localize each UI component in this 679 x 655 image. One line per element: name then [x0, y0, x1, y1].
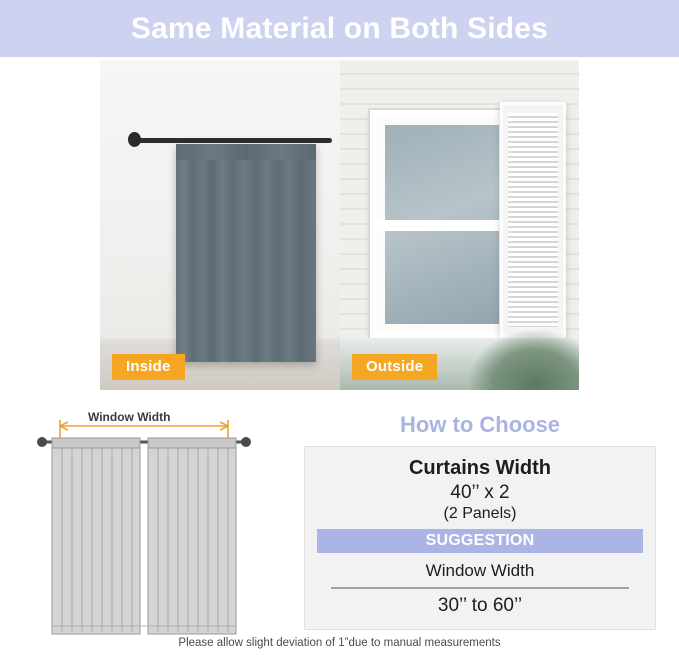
how-to-choose-title: How to Choose — [300, 412, 660, 438]
suggestion-badge: SUGGESTION — [317, 529, 643, 553]
window-width-diagram: Window Width — [22, 412, 284, 642]
shutter-louvers — [508, 113, 558, 327]
rod-finial-left-icon — [128, 132, 141, 147]
window-shutter — [500, 102, 566, 338]
panels-note: (2 Panels) — [317, 505, 643, 523]
label-inside: Inside — [112, 354, 185, 380]
how-to-choose-panel: How to Choose Curtains Width 40’’ x 2 (2… — [300, 412, 660, 642]
curtain-rod-pocket — [176, 144, 316, 160]
curtain-rod — [136, 138, 332, 143]
hedge-shadow — [469, 330, 579, 390]
footnote: Please allow slight deviation of 1”due t… — [0, 637, 679, 649]
window-mullion — [377, 220, 507, 231]
photo-inside: Inside — [100, 60, 340, 390]
choose-box: Curtains Width 40’’ x 2 (2 Panels) SUGGE… — [304, 446, 656, 630]
curtains-width-value: 40’’ x 2 — [317, 482, 643, 504]
window-frame — [370, 110, 514, 339]
curtain-panel — [176, 144, 316, 362]
photo-outside: Outside — [340, 60, 579, 390]
photo-comparison: Inside Outside — [100, 60, 579, 390]
header-banner: Same Material on Both Sides — [0, 0, 679, 57]
curtain-diagram-svg — [22, 412, 284, 642]
diagram-panel-left — [52, 438, 140, 634]
window-width-label: Window Width — [331, 553, 629, 589]
product-infographic: Same Material on Both Sides Inside — [0, 0, 679, 655]
curtains-width-label: Curtains Width — [317, 457, 643, 480]
window-width-value: 30’’ to 60’’ — [317, 589, 643, 617]
page-title: Same Material on Both Sides — [131, 12, 548, 46]
label-outside: Outside — [352, 354, 437, 380]
diagram-panel-right — [148, 438, 236, 634]
dimension-label: Window Width — [84, 410, 174, 424]
